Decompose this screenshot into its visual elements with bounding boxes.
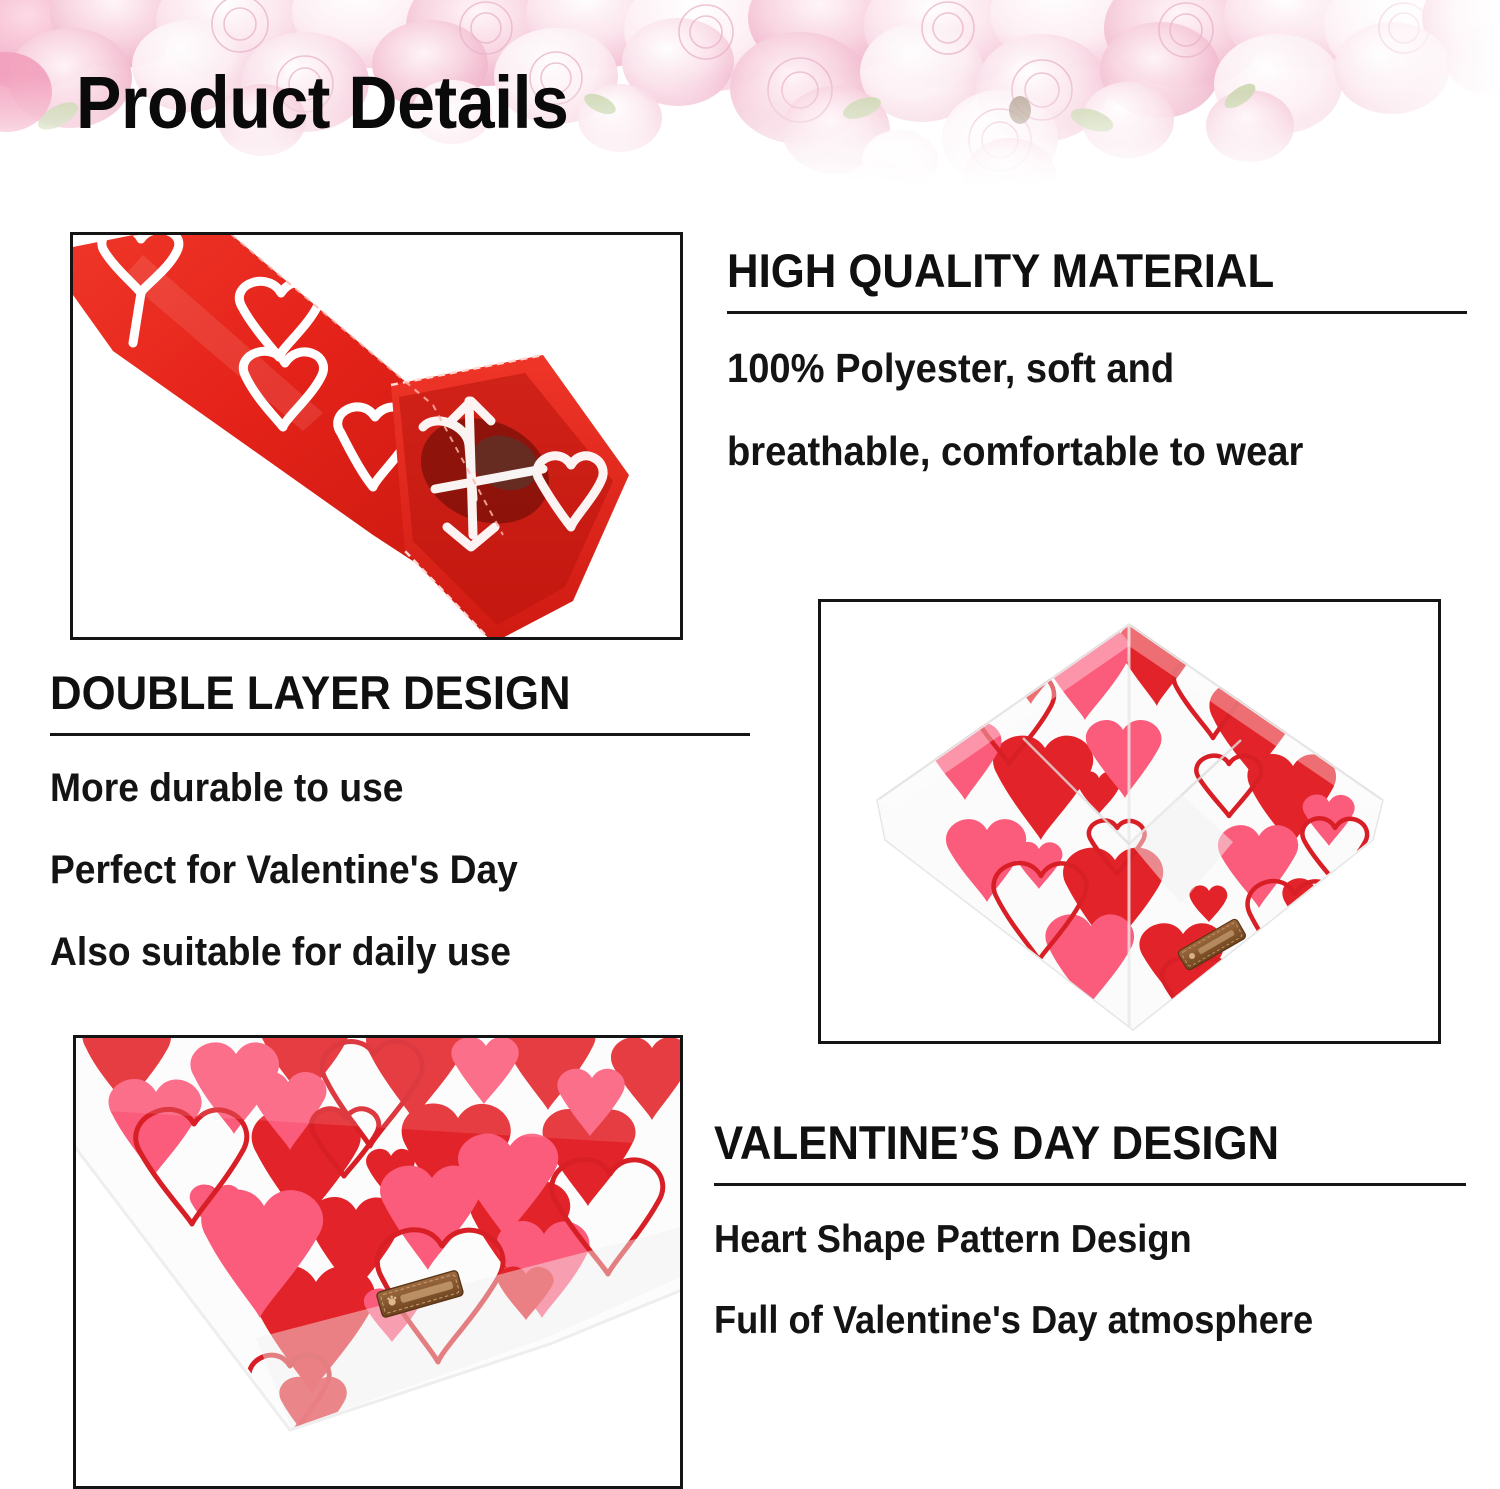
photo-rolled-red-bandana	[70, 232, 683, 640]
flat-bandana-art	[76, 1038, 680, 1486]
folded-bandana-art	[821, 602, 1438, 1041]
body-line: Also suitable for daily use	[50, 932, 701, 972]
section-heading: VALENTINE’S DAY DESIGN	[714, 1118, 1413, 1167]
body-line: 100% Polyester, soft and	[727, 348, 1415, 389]
body-line: Perfect for Valentine's Day	[50, 850, 701, 890]
photo-folded-white-bandana	[818, 599, 1441, 1044]
section-divider	[727, 311, 1467, 314]
section-body: 100% Polyester, soft and breathable, com…	[727, 348, 1467, 472]
body-line: More durable to use	[50, 768, 701, 808]
section-double-layer-design: DOUBLE LAYER DESIGN More durable to use …	[50, 668, 750, 972]
section-body: More durable to use Perfect for Valentin…	[50, 768, 750, 972]
body-line: Heart Shape Pattern Design	[714, 1220, 1413, 1259]
floral-right-fade	[1290, 0, 1500, 200]
section-high-quality-material: HIGH QUALITY MATERIAL 100% Polyester, so…	[727, 246, 1467, 472]
section-heading: HIGH QUALITY MATERIAL	[727, 246, 1415, 295]
section-heading: DOUBLE LAYER DESIGN	[50, 668, 701, 717]
photo-flat-white-bandana	[73, 1035, 683, 1489]
page-title: Product Details	[76, 66, 568, 140]
section-valentines-day-design: VALENTINE’S DAY DESIGN Heart Shape Patte…	[714, 1118, 1466, 1340]
rolled-bandana-art	[73, 235, 680, 637]
section-body: Heart Shape Pattern Design Full of Valen…	[714, 1220, 1466, 1340]
body-line: breathable, comfortable to wear	[727, 431, 1415, 472]
section-divider	[50, 733, 750, 736]
section-divider	[714, 1183, 1466, 1186]
body-line: Full of Valentine's Day atmosphere	[714, 1301, 1413, 1340]
